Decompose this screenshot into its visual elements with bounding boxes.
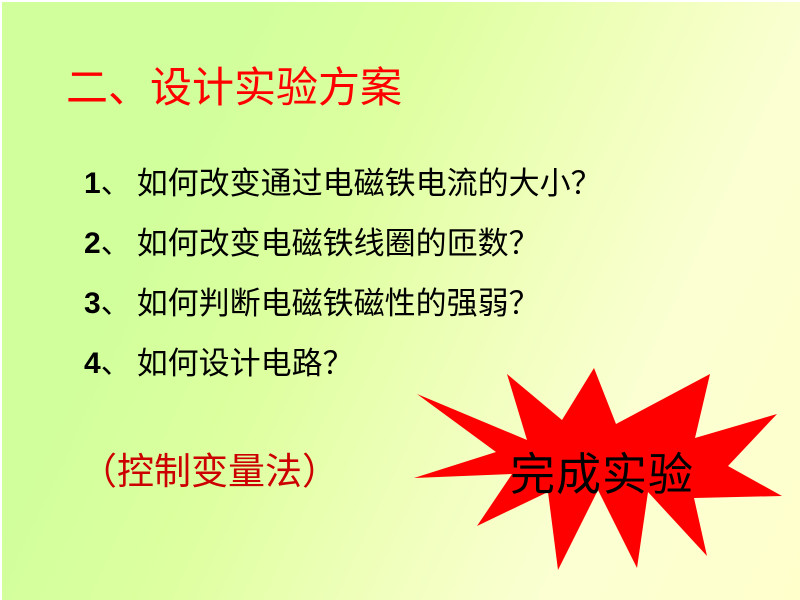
slide-canvas: 二、设计实验方案 1 、 如何改变通过电磁铁电流的大小？ 2 、 如何改变电磁铁… <box>0 0 800 600</box>
question-text: 如何判断电磁铁磁性的强弱？ <box>137 284 540 324</box>
question-number: 3 <box>84 284 101 324</box>
list-item: 2 、 如何改变电磁铁线圈的匝数？ <box>84 224 724 284</box>
explosion-label: 完成实验 <box>412 366 782 574</box>
explosion-callout: 完成实验 <box>412 366 782 574</box>
question-text: 如何改变通过电磁铁电流的大小？ <box>137 164 602 204</box>
question-separator: 、 <box>101 284 137 324</box>
list-item: 3 、 如何判断电磁铁磁性的强弱？ <box>84 284 724 344</box>
question-number: 4 <box>84 344 101 384</box>
question-separator: 、 <box>101 224 137 264</box>
question-text: 如何改变电磁铁线圈的匝数？ <box>137 224 540 264</box>
question-number: 2 <box>84 224 101 264</box>
question-number: 1 <box>84 164 101 204</box>
question-separator: 、 <box>101 344 137 384</box>
question-text: 如何设计电路？ <box>137 344 354 384</box>
list-item: 1 、 如何改变通过电磁铁电流的大小？ <box>84 164 724 224</box>
method-note: （控制变量法） <box>80 454 339 491</box>
question-separator: 、 <box>101 164 137 204</box>
page-title: 二、设计实验方案 <box>66 68 402 110</box>
